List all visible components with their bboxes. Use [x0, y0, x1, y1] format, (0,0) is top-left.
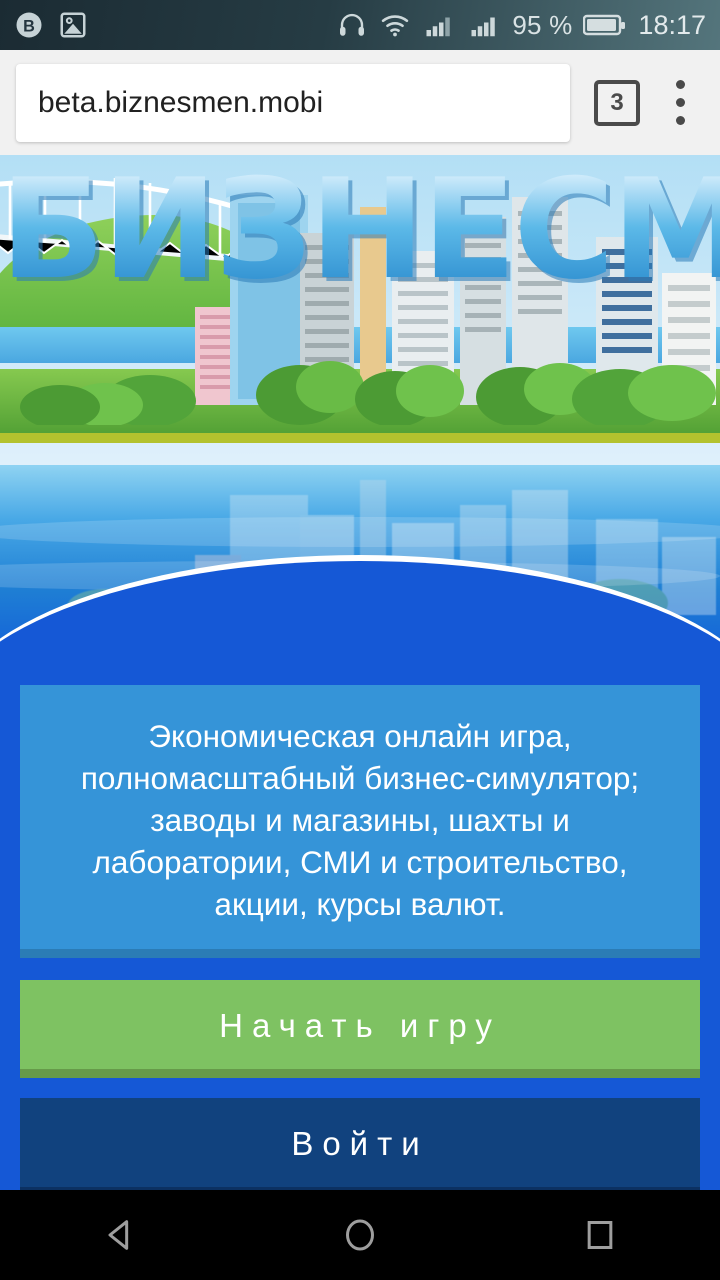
nav-back-button[interactable] [45, 1190, 195, 1280]
gallery-image-icon [58, 10, 88, 40]
hero-banner: БИЗНЕСМЕН БИЗНЕСМЕН [0, 155, 720, 465]
status-bar-indicators: 95 % 18:17 [336, 10, 706, 41]
status-bar-clock: 18:17 [638, 10, 706, 41]
badge-b-icon: B [14, 10, 44, 40]
svg-text:B: B [23, 17, 35, 35]
description-line: заводы и магазины, шахты и [46, 799, 674, 841]
phone-screen: B [0, 0, 720, 1280]
recents-square-icon [580, 1215, 620, 1255]
description-line: акции, курсы валют. [46, 883, 674, 925]
back-triangle-icon [100, 1215, 140, 1255]
battery-icon [583, 12, 627, 38]
description-line: лаборатории, СМИ и строительство, [46, 841, 674, 883]
wifi-icon [379, 10, 411, 40]
water-wave [0, 517, 720, 547]
address-bar[interactable]: beta.biznesmen.mobi [16, 64, 570, 142]
battery-percent-label: 95 % [512, 10, 572, 41]
android-navigation-bar [0, 1190, 720, 1280]
page-content: Экономическая онлайн игра, полномасштабн… [0, 685, 720, 1190]
nav-recents-button[interactable] [525, 1190, 675, 1280]
start-game-button[interactable]: Начать игру [20, 980, 700, 1078]
signal-sim2-icon [467, 10, 501, 40]
home-circle-icon [340, 1215, 380, 1255]
login-button[interactable]: Войти [20, 1098, 700, 1190]
android-status-bar: B [0, 0, 720, 50]
description-line: Экономическая онлайн игра, [46, 715, 674, 757]
overflow-menu-icon[interactable] [656, 80, 704, 125]
nav-home-button[interactable] [285, 1190, 435, 1280]
browser-toolbar: beta.biznesmen.mobi 3 [0, 50, 720, 155]
grass-edge [0, 433, 720, 443]
menu-dot [676, 80, 685, 89]
menu-dot [676, 98, 685, 107]
tab-count-label: 3 [610, 89, 623, 117]
hero-title: БИЗНЕСМЕН [0, 161, 720, 299]
description-panel: Экономическая онлайн игра, полномасштабн… [20, 685, 700, 958]
water-reflection [0, 465, 720, 647]
status-bar-notifications: B [14, 10, 88, 40]
signal-sim1-icon [422, 10, 456, 40]
tab-counter-button[interactable]: 3 [594, 80, 640, 126]
web-page: БИЗНЕСМЕН БИЗНЕСМЕН [0, 155, 720, 1190]
description-line: полномасштабный бизнес-симулятор; [46, 757, 674, 799]
menu-dot [676, 116, 685, 125]
headphones-icon [336, 10, 368, 40]
url-text[interactable]: beta.biznesmen.mobi [38, 86, 323, 120]
